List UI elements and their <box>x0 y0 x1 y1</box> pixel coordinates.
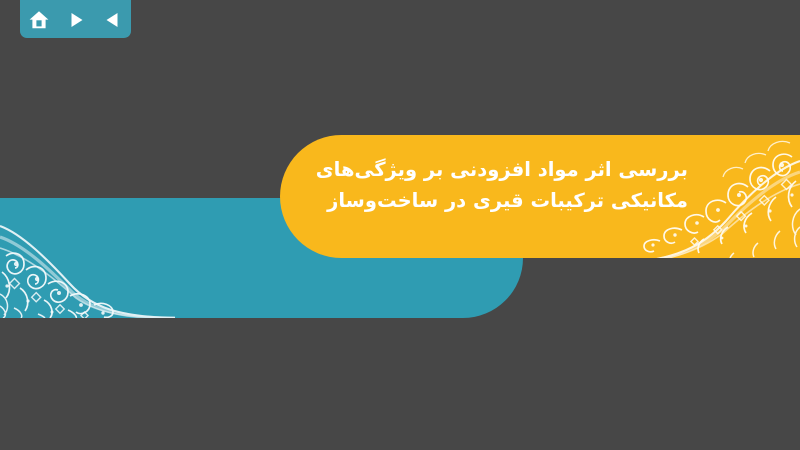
home-icon <box>28 9 50 31</box>
slide-title: بررسی اثر مواد افزودنی بر ویژگی‌های مکان… <box>288 154 688 216</box>
arabesque-ornament-teal <box>0 198 175 318</box>
title-line-2: مکانیکی ترکیبات قیری در ساخت‌وساز <box>288 185 688 216</box>
triangle-right-icon <box>66 10 86 30</box>
navigation-bar <box>20 0 131 38</box>
previous-button[interactable] <box>102 9 124 31</box>
presentation-slide: بررسی اثر مواد افزودنی بر ویژگی‌های مکان… <box>0 0 800 450</box>
home-button[interactable] <box>28 9 50 31</box>
triangle-left-icon <box>103 10 123 30</box>
next-button[interactable] <box>65 9 87 31</box>
title-line-1: بررسی اثر مواد افزودنی بر ویژگی‌های <box>288 154 688 185</box>
